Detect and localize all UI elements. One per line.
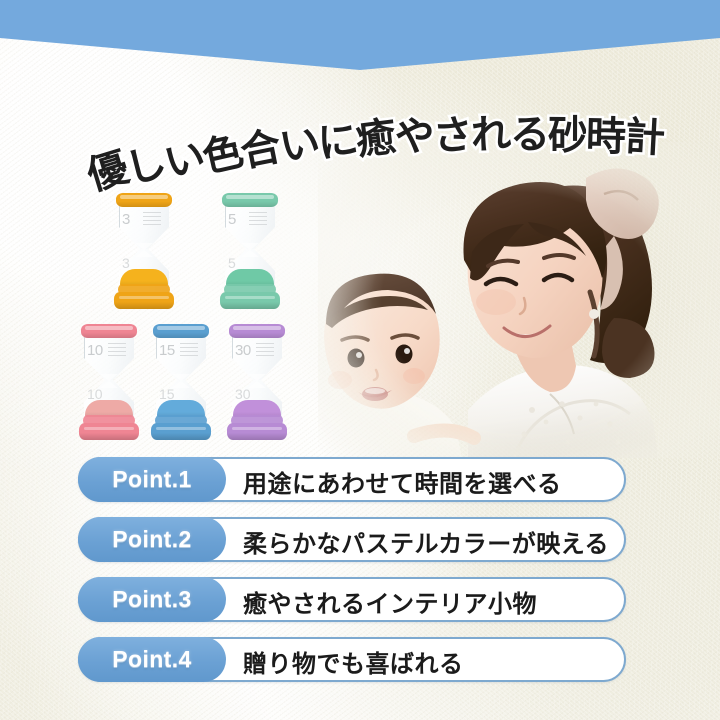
points-list: Point.1 用途にあわせて時間を選べる Point.2 柔らかなパステルカラ… (78, 457, 626, 697)
point-badge: Point.1 (78, 457, 226, 502)
hourglass-print-lines (256, 343, 274, 359)
hourglass-10min: 1010 (78, 324, 140, 440)
point-text: 贈り物でも喜ばれる (243, 639, 464, 684)
point-badge: Point.3 (78, 577, 226, 622)
hourglass-15min: 1515 (150, 324, 212, 440)
hourglass-cap (222, 193, 278, 207)
point-badge-label: Point.4 (112, 646, 191, 673)
hourglass-minute-label: 30 (235, 342, 251, 359)
point-text: 柔らかなパステルカラーが映える (243, 519, 609, 564)
point-badge-label: Point.3 (112, 586, 191, 613)
product-hourglasses: 3355101015153030 (0, 0, 720, 460)
hourglass-cap (153, 324, 209, 338)
hourglass-30min: 3030 (226, 324, 288, 440)
point-row[interactable]: Point.1 用途にあわせて時間を選べる (78, 457, 626, 502)
hourglass-cap (81, 324, 137, 338)
hourglass-base (227, 423, 287, 440)
ad-page: 時の流れを視覚的に楽しめる 優しい色合いに癒やされる砂時計 3355101015… (0, 0, 720, 720)
hourglass-minute-label-reflection: 3 (122, 255, 130, 271)
hourglass-print-lines (108, 343, 126, 359)
hourglass-print-lines (143, 212, 161, 228)
hourglass-minute-label: 15 (159, 342, 175, 359)
point-row[interactable]: Point.3 癒やされるインテリア小物 (78, 577, 626, 622)
point-text: 用途にあわせて時間を選べる (243, 459, 562, 504)
hourglass-minute-label-reflection: 30 (235, 386, 251, 402)
hourglass-minute-label: 3 (122, 211, 130, 228)
hourglass-minute-label-reflection: 10 (87, 386, 103, 402)
point-text: 癒やされるインテリア小物 (243, 579, 537, 624)
hourglass-cap (116, 193, 172, 207)
point-badge: Point.2 (78, 517, 226, 562)
hourglass-cap (229, 324, 285, 338)
hourglass-minute-label: 10 (87, 342, 103, 359)
hourglass-minute-label: 5 (228, 211, 236, 228)
hourglass-minute-label-reflection: 5 (228, 255, 236, 271)
point-row[interactable]: Point.4 贈り物でも喜ばれる (78, 637, 626, 682)
point-badge: Point.4 (78, 637, 226, 682)
point-badge-label: Point.2 (112, 526, 191, 553)
hourglass-base (79, 423, 139, 440)
hourglass-base (151, 423, 211, 440)
hourglass-3min: 33 (113, 193, 175, 309)
point-badge-label: Point.1 (112, 466, 191, 493)
hourglass-base (220, 292, 280, 309)
hourglass-minute-label-reflection: 15 (159, 386, 175, 402)
hourglass-print-lines (180, 343, 198, 359)
hourglass-print-lines (249, 212, 267, 228)
hourglass-5min: 55 (219, 193, 281, 309)
point-row[interactable]: Point.2 柔らかなパステルカラーが映える (78, 517, 626, 562)
hourglass-base (114, 292, 174, 309)
